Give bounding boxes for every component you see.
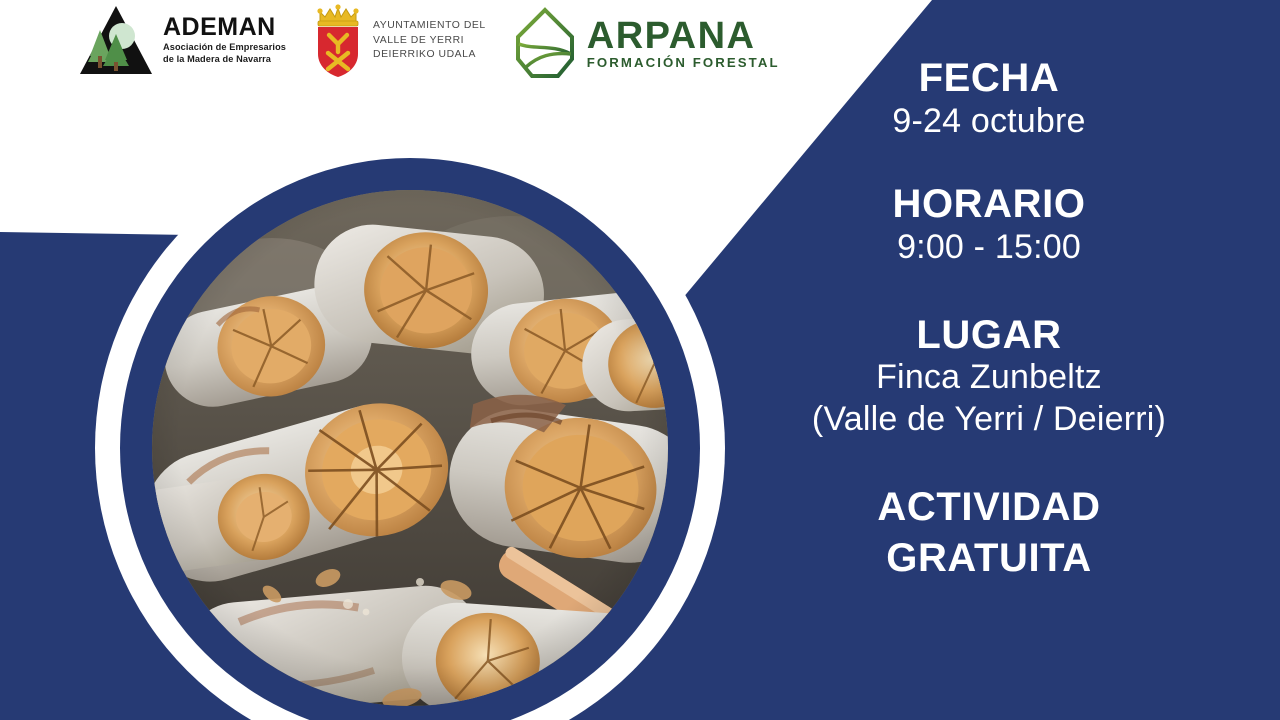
logo-ayuntamiento-valle-de-yerri: AYUNTAMIENTO DEL VALLE DE YERRI DEIERRIK… — [312, 4, 486, 78]
stacked-birch-logs-photo — [152, 190, 668, 706]
arpana-leaf-icon — [512, 4, 578, 82]
ademan-triangle-trees-icon — [78, 4, 154, 76]
horario-label: HORARIO — [760, 182, 1218, 227]
yerri-crowned-shield-icon — [312, 4, 364, 78]
ademan-subtitle-line2: de la Madera de Navarra — [163, 54, 286, 65]
detail-horario: HORARIO 9:00 - 15:00 — [760, 182, 1218, 268]
lugar-label: LUGAR — [760, 313, 1218, 358]
lugar-value-line2: (Valle de Yerri / Deierri) — [760, 399, 1218, 440]
logo-ademan: ADEMAN Asociación de Empresarios de la M… — [78, 4, 286, 76]
gratuita-line1: ACTIVIDAD — [760, 482, 1218, 533]
lugar-value-line1: Finca Zunbeltz — [760, 357, 1218, 398]
detail-lugar: LUGAR Finca Zunbeltz (Valle de Yerri / D… — [760, 313, 1218, 441]
ademan-name: ADEMAN — [163, 15, 286, 40]
circular-photo-frame — [95, 133, 725, 720]
ayuntamiento-line2: VALLE DE YERRI — [373, 34, 486, 49]
ayuntamiento-line3: DEIERRIKO UDALA — [373, 48, 486, 63]
arpana-name: ARPANA — [587, 17, 780, 55]
gratuita-line2: GRATUITA — [760, 533, 1218, 584]
horario-value: 9:00 - 15:00 — [760, 227, 1218, 268]
event-details-panel: FECHA 9-24 octubre HORARIO 9:00 - 15:00 … — [760, 0, 1280, 720]
fecha-value: 9-24 octubre — [760, 101, 1218, 142]
detail-actividad-gratuita: ACTIVIDAD GRATUITA — [760, 482, 1218, 584]
logo-strip: ADEMAN Asociación de Empresarios de la M… — [0, 0, 880, 100]
ayuntamiento-line1: AYUNTAMIENTO DEL — [373, 19, 486, 34]
arpana-subtitle: FORMACIÓN FORESTAL — [587, 56, 780, 69]
event-poster: ADEMAN Asociación de Empresarios de la M… — [0, 0, 1280, 720]
logo-arpana: ARPANA FORMACIÓN FORESTAL — [512, 4, 780, 82]
ademan-subtitle-line1: Asociación de Empresarios — [163, 42, 286, 53]
